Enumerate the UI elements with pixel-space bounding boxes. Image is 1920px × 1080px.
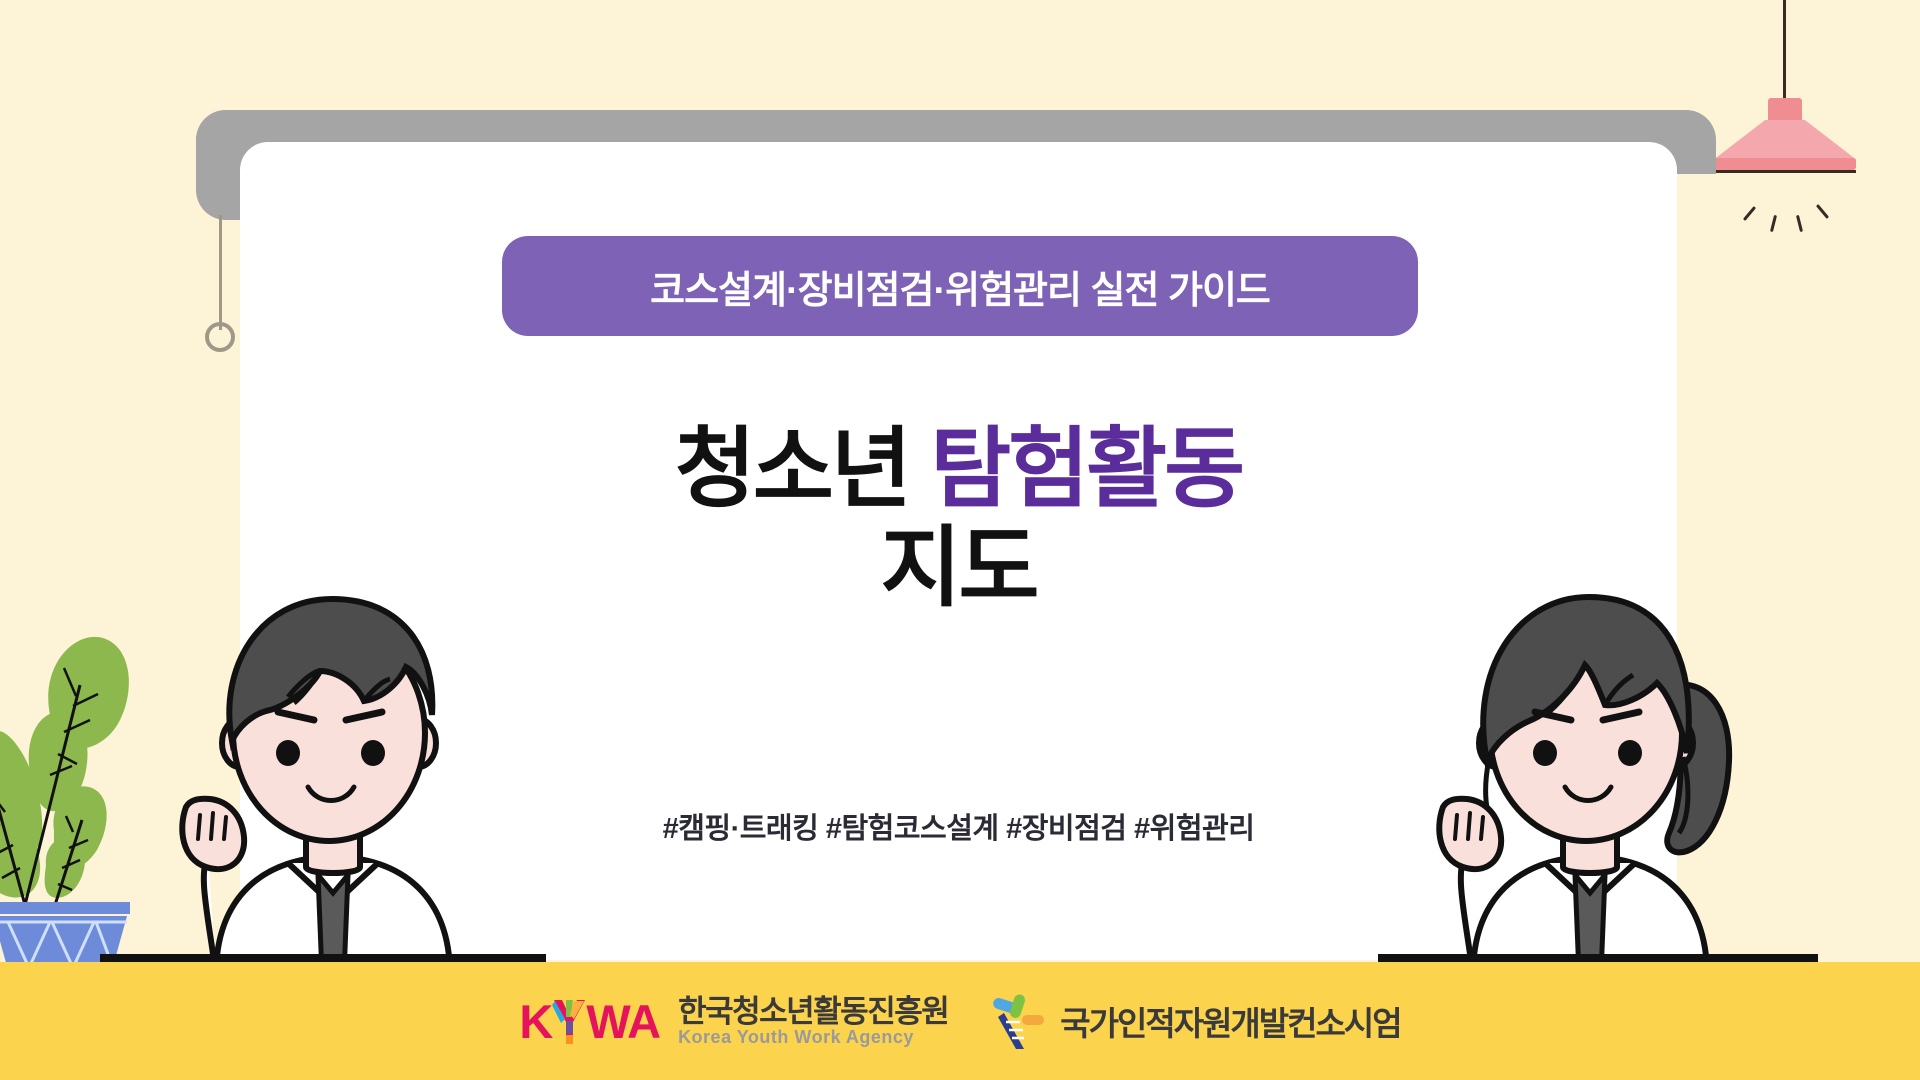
female-student-character [1425,575,1755,975]
title-part-purple: 탐험활동 [930,419,1242,518]
kywa-org-en: Korea Youth Work Agency [678,1028,948,1047]
title-line-1: 청소년 탐험활동 [240,420,1677,519]
nhrd-star-icon [990,991,1046,1051]
subtitle-banner: 코스설계·장비점검·위험관리 실전 가이드 [502,236,1418,336]
pendant-lamp-icon [1700,0,1920,230]
title-part-black: 청소년 [675,419,930,518]
potted-plant-icon [0,620,155,960]
lamp-cord [1783,0,1786,100]
kywa-letter-k: K [519,994,552,1049]
lamp-rim [1714,158,1856,170]
kywa-org-ko: 한국청소년활동진흥원 [678,995,948,1028]
pull-ring-icon[interactable] [205,322,235,352]
lamp-ray-icon [1816,204,1829,219]
male-character-svg [168,575,498,975]
lamp-ray-icon [1743,206,1756,221]
lamp-ray-icon [1770,215,1777,232]
male-student-character [168,575,498,975]
kywa-y-svg [552,997,586,1045]
lamp-ray-icon [1796,215,1803,232]
poster-canvas: 코스설계·장비점검·위험관리 실전 가이드 청소년 탐험활동 지도 #캠핑·트래… [0,0,1920,1080]
pull-cord[interactable] [219,215,222,330]
kywa-letters-wa: WA [586,994,660,1049]
kywa-wordmark: K WA [519,994,660,1049]
kywa-letter-y-icon [552,997,586,1045]
footer-bar: K WA 한국청소년활동진흥원 Korea Youth Work Agency [0,962,1920,1080]
kywa-org-name: 한국청소년활동진흥원 Korea Youth Work Agency [678,995,948,1048]
female-character-svg [1425,575,1755,975]
kywa-logo: K WA 한국청소년활동진흥원 Korea Youth Work Agency [519,994,948,1049]
nhrd-consortium-logo: 국가인적자원개발컨소시엄 [990,991,1400,1051]
nhrd-label: 국가인적자원개발컨소시엄 [1060,997,1400,1045]
subtitle-text: 코스설계·장비점검·위험관리 실전 가이드 [650,259,1270,314]
plant-svg [0,620,155,970]
